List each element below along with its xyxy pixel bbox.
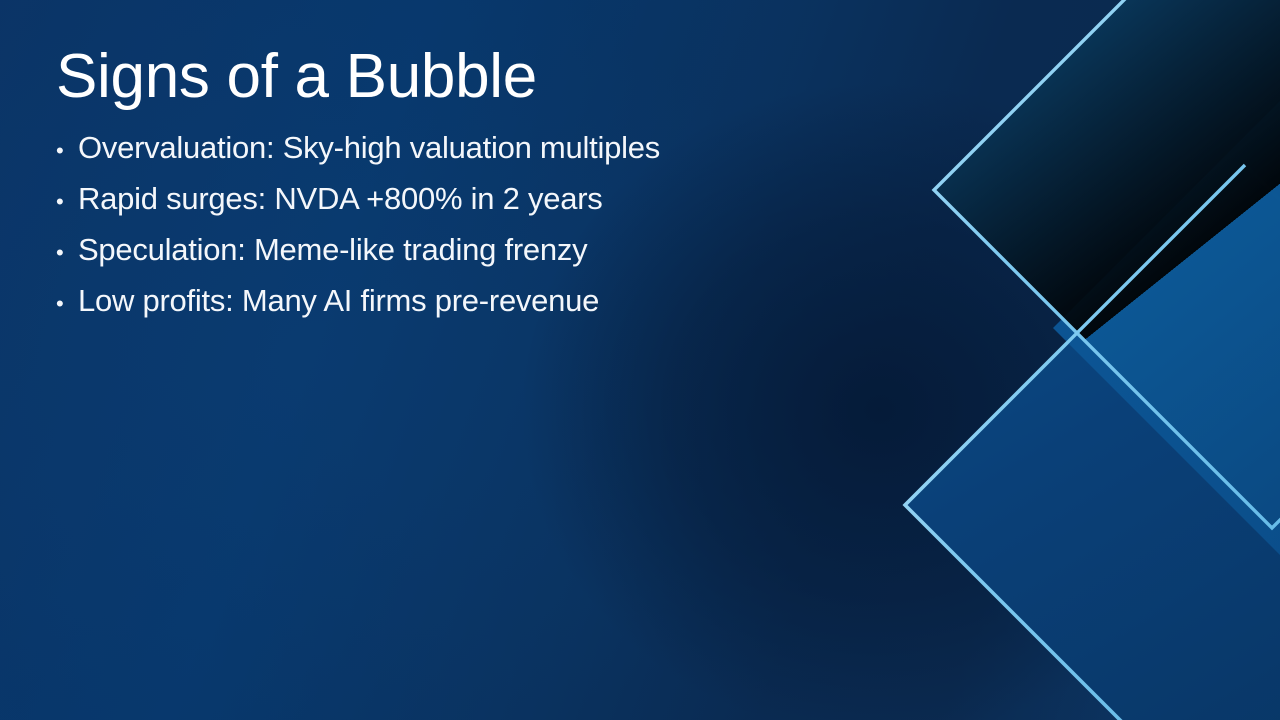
presentation-slide: Signs of a Bubble • Overvaluation: Sky-h… bbox=[0, 0, 1280, 720]
list-item: • Low profits: Many AI firms pre-revenue bbox=[56, 277, 856, 328]
bullet-dot-icon: • bbox=[56, 229, 78, 277]
list-item: • Rapid surges: NVDA +800% in 2 years bbox=[56, 175, 856, 226]
list-item: • Speculation: Meme-like trading frenzy bbox=[56, 226, 856, 277]
page-title: Signs of a Bubble bbox=[56, 44, 856, 110]
bullet-dot-icon: • bbox=[56, 280, 78, 328]
bullet-dot-icon: • bbox=[56, 178, 78, 226]
bullet-text: Overvaluation: Sky-high valuation multip… bbox=[78, 124, 660, 172]
bullet-text: Rapid surges: NVDA +800% in 2 years bbox=[78, 175, 603, 223]
bullet-text: Speculation: Meme-like trading frenzy bbox=[78, 226, 587, 274]
bullet-list: • Overvaluation: Sky-high valuation mult… bbox=[56, 124, 856, 328]
slide-content: Signs of a Bubble • Overvaluation: Sky-h… bbox=[56, 44, 856, 328]
bullet-dot-icon: • bbox=[56, 127, 78, 175]
list-item: • Overvaluation: Sky-high valuation mult… bbox=[56, 124, 856, 175]
bullet-text: Low profits: Many AI firms pre-revenue bbox=[78, 277, 599, 325]
